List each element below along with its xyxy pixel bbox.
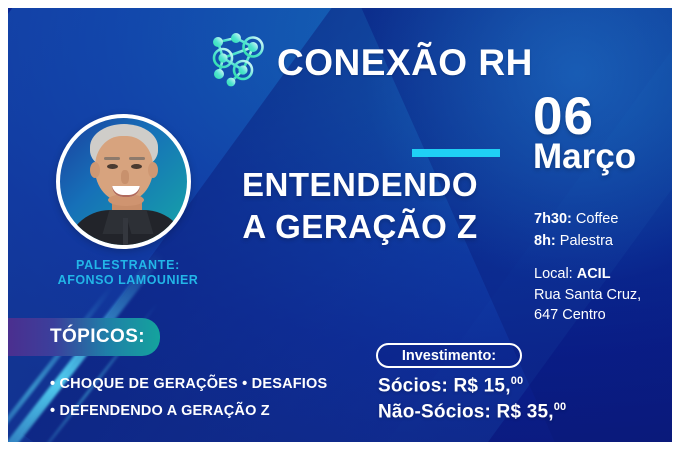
schedule-activity-2: Palestra <box>556 233 613 249</box>
location-district: 647 Centro <box>534 305 672 326</box>
speaker-photo <box>56 114 191 249</box>
price-nonmember-label: Não-Sócios: R$ 35, <box>378 401 554 422</box>
speaker-portrait-illustration <box>60 118 187 245</box>
event-schedule: 7h30: Coffee 8h: Palestra <box>534 208 672 253</box>
brand-logo: CONEXÃO RH <box>205 30 533 95</box>
event-date-day: 06 <box>533 90 672 143</box>
price-member-cents: 00 <box>511 375 524 387</box>
location-label: Local: <box>534 266 577 282</box>
topics-heading: TÓPICOS: <box>50 326 145 348</box>
investment-heading: Investimento: <box>402 348 496 364</box>
price-nonmember-cents: 00 <box>554 401 567 413</box>
title-accent-bar <box>412 149 500 157</box>
schedule-activity-1: Coffee <box>572 211 619 227</box>
molecule-network-icon <box>205 30 271 95</box>
schedule-time-1: 7h30: <box>534 211 572 227</box>
brand-name: CONEXÃO RH <box>277 44 533 81</box>
title-line-1: ENTENDENDO <box>242 166 478 203</box>
schedule-row-coffee: 7h30: Coffee <box>534 208 672 230</box>
event-flyer: CONEXÃO RH PALESTRANTE: AFONSO LAMOUNIER… <box>8 8 672 442</box>
location-venue: ACIL <box>577 266 611 282</box>
topics-line-2: • DEFENDENDO A GERAÇÃO Z <box>50 398 380 425</box>
topics-heading-badge: TÓPICOS: <box>8 318 160 356</box>
location-street: Rua Santa Cruz, <box>534 285 672 306</box>
event-date-month: Março <box>533 139 672 174</box>
schedule-time-2: 8h: <box>534 233 556 249</box>
price-nonmember: Não-Sócios: R$ 35,00 <box>378 402 672 421</box>
location-venue-row: Local: ACIL <box>534 264 672 285</box>
price-member-label: Sócios: R$ 15, <box>378 375 511 396</box>
topics-line-1: • CHOQUE DE GERAÇÕES • DESAFIOS <box>50 371 380 398</box>
page-title: ENTENDENDO A GERAÇÃO Z <box>188 164 532 248</box>
price-member: Sócios: R$ 15,00 <box>378 376 672 395</box>
event-location: Local: ACIL Rua Santa Cruz, 647 Centro <box>534 264 672 326</box>
title-line-2: A GERAÇÃO Z <box>188 206 532 248</box>
topics-list: • CHOQUE DE GERAÇÕES • DESAFIOS • DEFEND… <box>50 371 380 425</box>
speaker-name: AFONSO LAMOUNIER <box>28 271 228 289</box>
investment-heading-badge: Investimento: <box>376 343 522 368</box>
schedule-row-talk: 8h: Palestra <box>534 230 672 252</box>
